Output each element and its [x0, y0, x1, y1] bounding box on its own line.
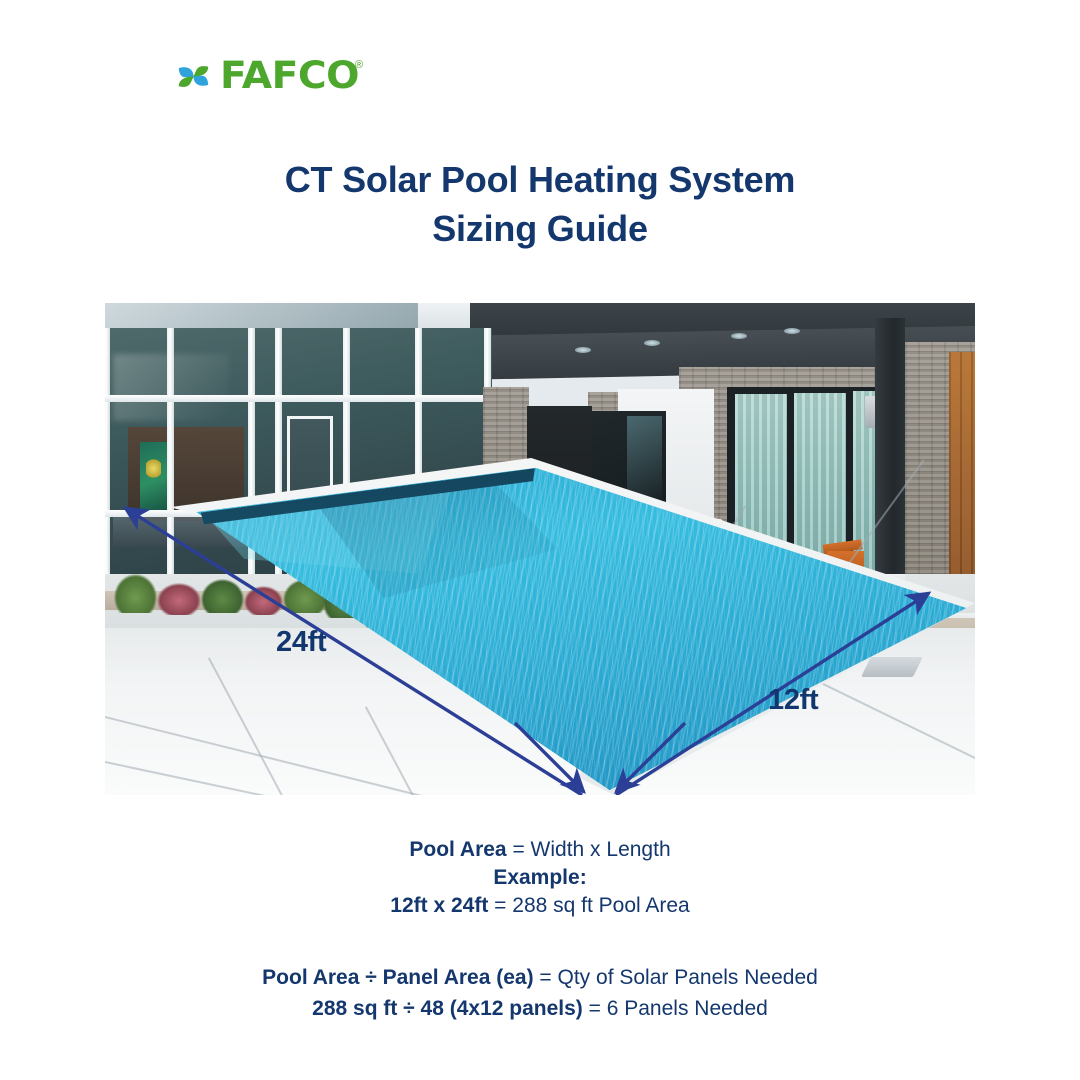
window-mullion — [105, 328, 110, 589]
formula-line-panel-qty: Pool Area ÷ Panel Area (ea) = Qty of Sol… — [0, 962, 1080, 993]
formula-line-example-calc: 12ft x 24ft = 288 sq ft Pool Area — [0, 892, 1080, 920]
formula-line-example-label: Example: — [0, 864, 1080, 892]
formula-block-panel-count: Pool Area ÷ Panel Area (ea) = Qty of Sol… — [0, 962, 1080, 1024]
ceiling-downlight — [644, 340, 660, 346]
page-root: FAFCO ® CT Solar Pool Heating System Siz… — [0, 0, 1080, 1080]
interior-artwork-accent — [146, 458, 161, 479]
dimension-label-width: 12ft — [768, 684, 818, 717]
fafco-swirl-logo-icon — [176, 59, 211, 94]
ceiling-downlight — [731, 333, 747, 339]
ceiling-downlight — [784, 328, 800, 334]
formula-term-panel-calc: 288 sq ft ÷ 48 (4x12 panels) — [312, 997, 583, 1020]
brand-wordmark: FAFCO — [220, 58, 359, 93]
formula-rest-panel-division: = Qty of Solar Panels Needed — [534, 966, 818, 989]
formula-term-pool-area: Pool Area — [409, 838, 506, 861]
formula-line-panel-calc: 288 sq ft ÷ 48 (4x12 panels) = 6 Panels … — [0, 993, 1080, 1024]
page-title: CT Solar Pool Heating System Sizing Guid… — [0, 155, 1080, 253]
wood-entry-door — [949, 352, 975, 588]
brand-logo[interactable]: FAFCO ® — [176, 58, 363, 98]
landscape-shrub — [114, 574, 158, 613]
deck-access-plate — [861, 657, 923, 677]
landscape-flowering-shrub — [244, 586, 283, 616]
formula-block-pool-area: Pool Area = Width x Length Example: 12ft… — [0, 836, 1080, 920]
formula-term-panel-division: Pool Area ÷ Panel Area (ea) — [262, 966, 533, 989]
formula-rest-dimensions: = 288 sq ft Pool Area — [488, 894, 689, 917]
landscape-flowering-shrub — [157, 583, 201, 615]
formula-line-pool-area: Pool Area = Width x Length — [0, 836, 1080, 864]
landscape-shrub — [201, 579, 245, 613]
dimension-label-length: 24ft — [276, 626, 326, 659]
pool-photo — [105, 303, 975, 795]
pool-photo-scene — [105, 303, 975, 795]
page-title-line-2: Sizing Guide — [0, 204, 1080, 253]
page-title-line-1: CT Solar Pool Heating System — [0, 155, 1080, 204]
dark-structural-column — [875, 318, 905, 603]
formula-rest-panel-calc: = 6 Panels Needed — [583, 997, 768, 1020]
window-mullion — [167, 328, 174, 589]
formula-rest-pool-area: = Width x Length — [507, 838, 671, 861]
window-transom — [105, 395, 492, 402]
formula-term-example: Example: — [493, 866, 586, 889]
formula-term-dimensions: 12ft x 24ft — [390, 894, 488, 917]
